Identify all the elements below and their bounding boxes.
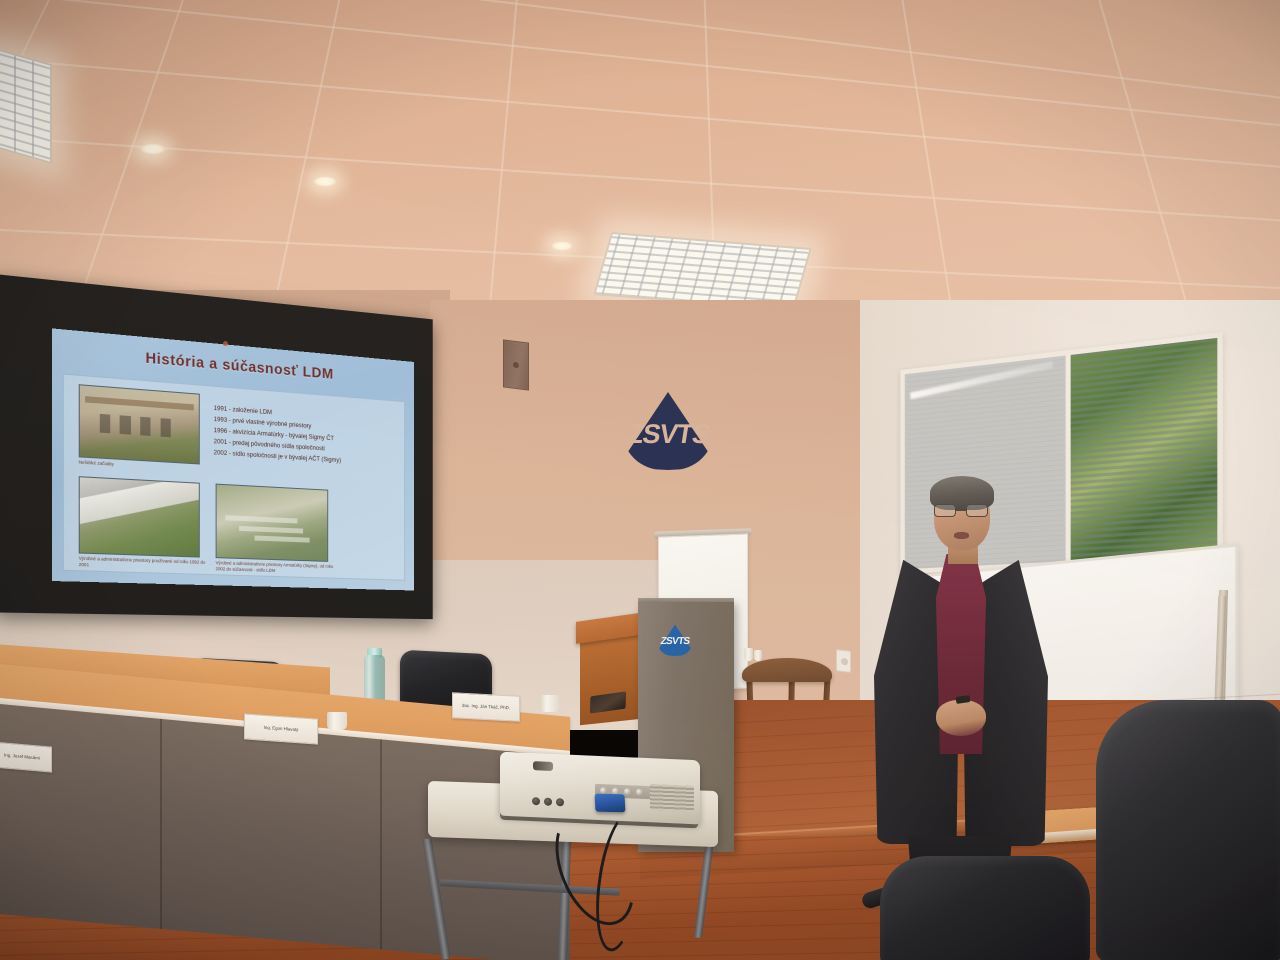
presenter — [858, 470, 1058, 890]
hands — [936, 700, 986, 736]
loudspeaker-icon — [503, 339, 529, 390]
name-placard: Ing. Egon Hlavatý — [244, 713, 318, 744]
name-placard: doc. Ing. Ján Tkáč, PhD. — [452, 692, 520, 722]
zsvts-logo: ZSVTS — [622, 392, 714, 470]
cup — [744, 648, 753, 661]
screen-marker — [223, 341, 228, 346]
vga-connector — [595, 794, 626, 813]
photo-caption: Výrobné a administratívne priestory použ… — [79, 556, 208, 573]
projector-vent — [650, 784, 694, 812]
projected-slide: História a súčasnosť LDM 1991 - založeni… — [52, 328, 414, 590]
projector-lens-icon — [533, 761, 553, 771]
zsvts-badge: ZSVTS — [657, 624, 693, 656]
foreground-chair — [1096, 700, 1280, 960]
slide-bullet-list: 1991 - založenie LDM 1993 - prvé vlastné… — [214, 403, 399, 470]
data-projector — [500, 752, 700, 825]
foreground-chair — [880, 856, 1090, 960]
plastic-cup — [327, 712, 347, 730]
ceiling-light-troffer-left — [0, 46, 52, 164]
photo-caption: Výrobné a administratívne priestory Arma… — [216, 560, 338, 576]
name-placard-text: doc. Ing. Ján Tkáč, PhD. — [462, 703, 510, 711]
old-building-photo — [79, 384, 200, 464]
window-pane-right-view-trees — [1070, 338, 1217, 561]
conference-room-photo: ZSVTS — [0, 0, 1280, 960]
aerial-factory-photo — [216, 484, 329, 562]
ceiling-vent — [790, 235, 834, 252]
name-placard-text: Ing. Jozef Masárni — [4, 753, 40, 762]
name-placard-text: Ing. Egon Hlavatý — [264, 725, 299, 733]
recessed-downlight-icon — [140, 143, 166, 155]
zsvts-logo-text: ZSVTS — [634, 414, 703, 455]
recessed-downlight-icon — [313, 176, 337, 187]
cup — [754, 650, 762, 661]
recessed-downlight-icon — [551, 241, 573, 251]
name-placard: Ing. Jozef Masárni — [0, 741, 52, 772]
power-outlet-icon — [836, 649, 851, 673]
production-hall-photo — [79, 476, 200, 557]
projector-ports — [532, 795, 584, 809]
badge-text: ZSVTS — [661, 634, 689, 649]
plastic-cup — [540, 695, 559, 712]
slide-content-area: 1991 - založenie LDM 1993 - prvé vlastné… — [63, 373, 405, 580]
mouth — [954, 532, 969, 539]
glasses-icon — [934, 504, 991, 517]
